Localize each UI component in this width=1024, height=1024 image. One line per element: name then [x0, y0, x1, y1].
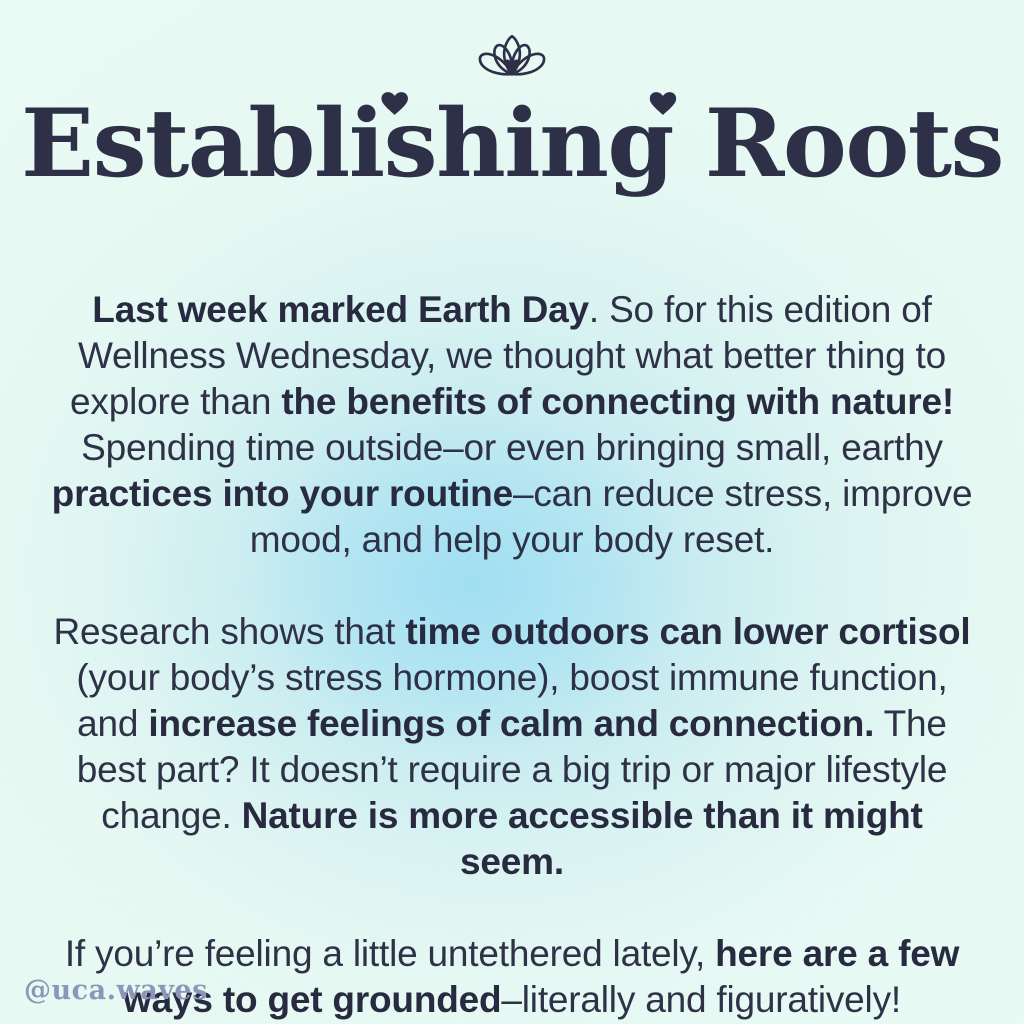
body-text: Spending time outside–or even bringing s…: [81, 427, 943, 468]
body-text: –literally and figuratively!: [501, 979, 901, 1020]
account-handle: @uca.waves: [24, 975, 208, 1006]
page-title: Establishing Roots: [0, 98, 1024, 190]
body-text: If you’re feeling a little untethered la…: [65, 933, 715, 974]
page-title-text: Establishing Roots: [21, 89, 1003, 199]
research-paragraph: Research shows that time outdoors can lo…: [47, 609, 977, 885]
emphasis-text: time outdoors can lower cortisol: [405, 611, 970, 652]
emphasis-text: Last week marked Earth Day: [92, 289, 589, 330]
body-text: Research shows that: [54, 611, 406, 652]
emphasis-text: Nature is more accessible than it might …: [242, 795, 923, 882]
emphasis-text: the benefits of connecting with nature!: [281, 381, 954, 422]
intro-paragraph: Last week marked Earth Day. So for this …: [47, 287, 977, 563]
emphasis-text: increase feelings of calm and connection…: [148, 703, 874, 744]
emphasis-text: practices into your routine: [52, 473, 513, 514]
lotus-flower-icon: [476, 30, 548, 82]
article-body: Last week marked Earth Day. So for this …: [47, 287, 977, 1023]
social-post-canvas: Establishing Roots Last week marked Eart…: [0, 0, 1024, 1024]
